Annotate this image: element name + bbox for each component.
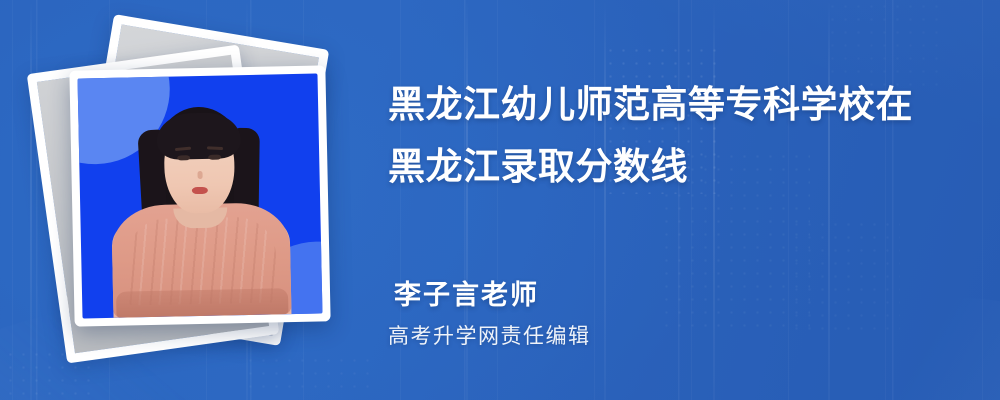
- portrait-eye-left: [177, 155, 190, 160]
- portrait-mouth: [192, 187, 208, 194]
- banner-headline: 黑龙江幼儿师范高等专科学校在黑龙江录取分数线: [388, 74, 948, 198]
- portrait-dress-waist: [116, 288, 289, 318]
- author-role: 高考升学网责任编辑: [388, 320, 591, 350]
- banner-text-block: 黑龙江幼儿师范高等专科学校在黑龙江录取分数线 李子言老师 高考升学网责任编辑: [388, 0, 968, 400]
- author-name: 李子言老师: [394, 273, 539, 312]
- article-cover-banner: 黑龙江幼儿师范高等专科学校在黑龙江录取分数线 李子言老师 高考升学网责任编辑: [0, 0, 1000, 400]
- portrait-figure: [78, 99, 322, 319]
- author-photo-card: [69, 65, 330, 326]
- author-photo: [78, 74, 323, 319]
- portrait-fringe: [156, 112, 241, 160]
- portrait-nose: [197, 171, 202, 179]
- portrait-eye-right: [208, 155, 221, 160]
- photo-card-stack: [40, 24, 350, 374]
